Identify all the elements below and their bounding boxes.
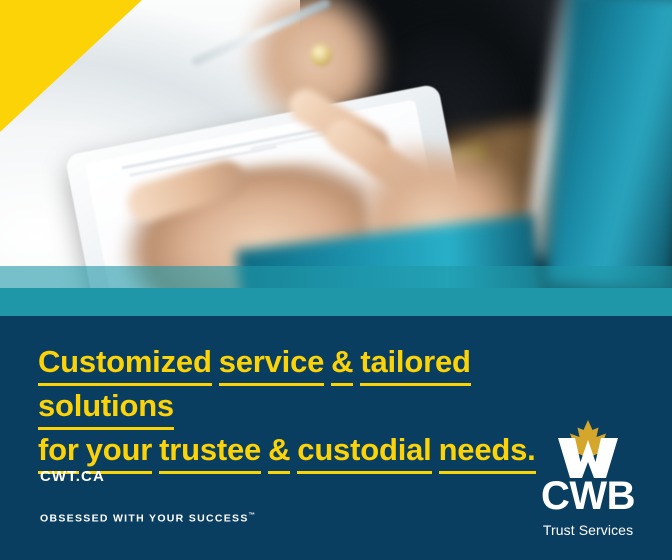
headline-word: Customized xyxy=(38,342,212,386)
logo-wordmark: CWB xyxy=(518,474,658,518)
headline-word: custodial xyxy=(297,430,431,474)
navy-content-panel: Customizedservice&tailoredsolutions fory… xyxy=(0,316,672,560)
photo-ring xyxy=(310,44,332,66)
hero-photo xyxy=(0,0,672,316)
teal-overlay-band-translucent xyxy=(0,266,672,290)
trademark-symbol: ™ xyxy=(249,512,256,519)
headline-word: trustee xyxy=(159,430,261,474)
brand-tagline: OBSESSED WITH YOUR SUCCESS™ xyxy=(40,512,255,525)
tagline-text: OBSESSED WITH YOUR SUCCESS xyxy=(40,513,249,525)
advertisement-banner: Customizedservice&tailoredsolutions fory… xyxy=(0,0,672,560)
teal-band-solid xyxy=(0,288,672,316)
website-url[interactable]: CWT.CA xyxy=(40,468,105,485)
logo-sub-wordmark: Trust Services xyxy=(518,522,658,538)
logo-svg xyxy=(518,418,658,480)
cwb-maple-leaf-w-icon xyxy=(518,418,658,480)
headline-word: & xyxy=(331,342,353,386)
headline-word: tailored xyxy=(360,342,470,386)
headline-word: & xyxy=(268,430,290,474)
cwb-logo: CWB Trust Services xyxy=(518,418,658,546)
headline-word: service xyxy=(219,342,324,386)
w-letter-shape xyxy=(558,438,618,478)
headline-word: solutions xyxy=(38,386,174,430)
